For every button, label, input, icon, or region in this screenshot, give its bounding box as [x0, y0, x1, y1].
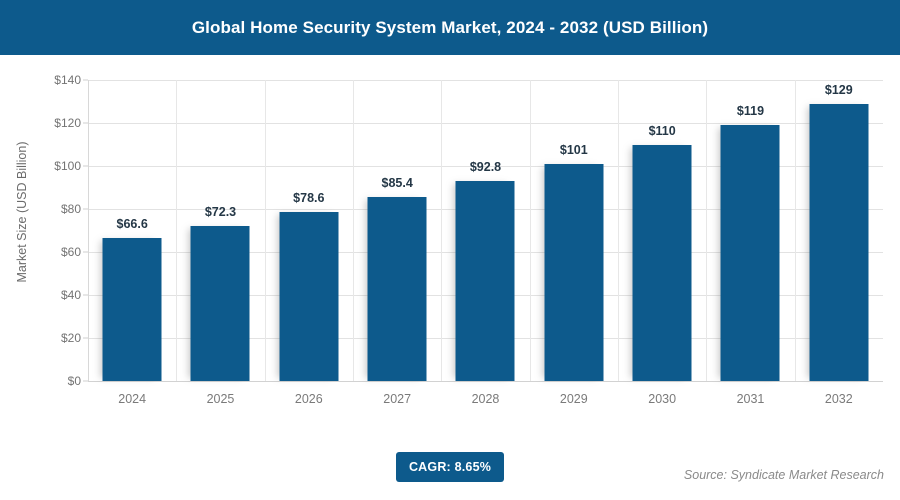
- bar[interactable]: [544, 164, 603, 381]
- bar-group[interactable]: $1102030: [618, 80, 706, 381]
- bar[interactable]: [633, 145, 692, 382]
- bar-series: $66.62024$72.32025$78.62026$85.42027$92.…: [88, 80, 883, 381]
- bar-value-label: $110: [649, 124, 676, 138]
- page-title: Global Home Security System Market, 2024…: [0, 0, 900, 55]
- y-axis-tick-label: $0: [68, 374, 81, 388]
- x-axis-tick-label: 2030: [648, 392, 676, 406]
- x-axis-tick-label: 2027: [383, 392, 411, 406]
- bar-value-label: $129: [825, 83, 853, 97]
- header-band: Global Home Security System Market, 2024…: [0, 0, 900, 55]
- bar-value-label: $85.4: [382, 176, 413, 190]
- bar-group[interactable]: $1192031: [706, 80, 794, 381]
- bar-value-label: $66.6: [117, 217, 148, 231]
- bar-value-label: $72.3: [205, 205, 236, 219]
- bar-value-label: $78.6: [293, 191, 324, 205]
- bar-value-label: $92.8: [470, 160, 501, 174]
- bar-group[interactable]: $85.42027: [353, 80, 441, 381]
- bar-group[interactable]: $1292032: [795, 80, 883, 381]
- x-axis-tick-label: 2028: [472, 392, 500, 406]
- y-axis-tick-label: $20: [61, 331, 81, 345]
- bar-group[interactable]: $66.62024: [88, 80, 176, 381]
- bar-group[interactable]: $92.82028: [441, 80, 529, 381]
- plot-area: $0$20$40$60$80$100$120$140 $66.62024$72.…: [88, 80, 883, 381]
- bar-group[interactable]: $72.32025: [176, 80, 264, 381]
- bar[interactable]: [103, 238, 162, 381]
- y-axis-tick-label: $60: [61, 245, 81, 259]
- x-axis-tick-label: 2026: [295, 392, 323, 406]
- bar-group[interactable]: $1012029: [530, 80, 618, 381]
- bar[interactable]: [721, 125, 780, 381]
- bar-value-label: $101: [560, 143, 588, 157]
- chart-container: Market Size (USD Billion) $0$20$40$60$80…: [0, 55, 900, 500]
- x-axis-tick-label: 2029: [560, 392, 588, 406]
- x-axis-tick-label: 2032: [825, 392, 853, 406]
- y-axis-tick-label: $80: [61, 202, 81, 216]
- y-axis-title: Market Size (USD Billion): [15, 112, 29, 312]
- bar[interactable]: [368, 197, 427, 381]
- bar[interactable]: [456, 181, 515, 381]
- x-axis-tick-label: 2025: [207, 392, 235, 406]
- bar-value-label: $119: [737, 104, 764, 118]
- x-axis-tick-label: 2024: [118, 392, 146, 406]
- bar[interactable]: [191, 226, 250, 381]
- cagr-badge: CAGR: 8.65%: [396, 452, 504, 482]
- chart-page: Global Home Security System Market, 2024…: [0, 0, 900, 500]
- y-axis-tick-label: $140: [54, 73, 81, 87]
- y-axis-tick-label: $120: [54, 116, 81, 130]
- source-attribution: Source: Syndicate Market Research: [684, 468, 884, 482]
- bar[interactable]: [809, 104, 868, 381]
- x-axis-tick-label: 2031: [737, 392, 765, 406]
- y-axis-tick-label: $40: [61, 288, 81, 302]
- bar[interactable]: [279, 212, 338, 381]
- gridline: [88, 381, 883, 382]
- bar-group[interactable]: $78.62026: [265, 80, 353, 381]
- y-axis-tick-label: $100: [54, 159, 81, 173]
